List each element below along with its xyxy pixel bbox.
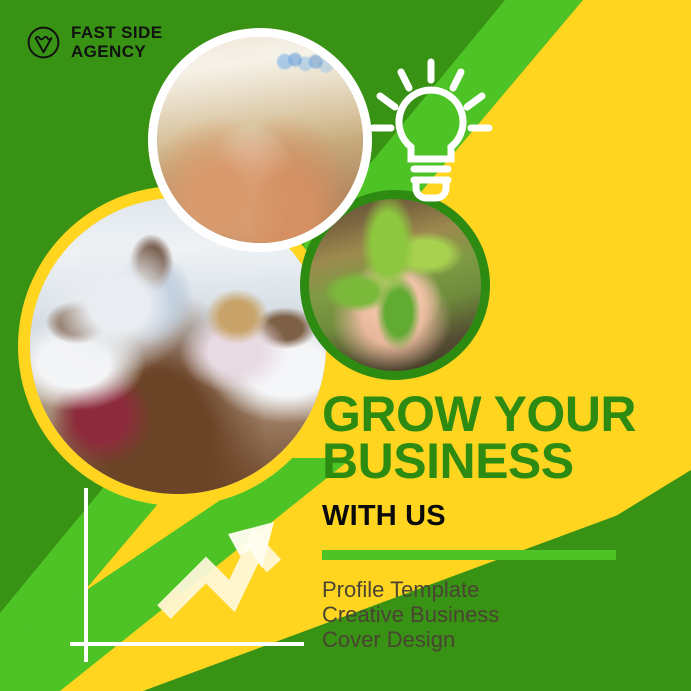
triangle-in-circle-icon <box>26 25 61 60</box>
photo-hands-typing-keyboard-image <box>157 37 363 243</box>
headline-subline: WITH US <box>322 500 672 532</box>
divider-rule <box>322 550 616 560</box>
photo-hands-typing-keyboard <box>148 28 372 252</box>
headline-line-1: GROW YOUR <box>322 392 672 437</box>
description-block: Profile Template Creative Business Cover… <box>322 577 672 652</box>
lightbulb-idea-icon <box>368 58 494 206</box>
brand-logo: FAST SIDE AGENCY <box>26 23 162 61</box>
description-line-3: Cover Design <box>322 627 672 652</box>
copy-block: GROW YOUR BUSINESS WITH US Profile Templ… <box>322 392 672 652</box>
upward-trend-arrow-chart-icon <box>60 484 320 674</box>
poster-canvas: FAST SIDE AGENCY <box>0 0 691 691</box>
headline-line-2: BUSINESS <box>322 439 672 484</box>
description-line-2: Creative Business <box>322 602 672 627</box>
description-line-1: Profile Template <box>322 577 672 602</box>
brand-name: FAST SIDE AGENCY <box>71 23 162 61</box>
photo-hands-typing-keyboard-frame <box>157 37 363 243</box>
brand-name-line2: AGENCY <box>71 42 162 61</box>
brand-name-line1: FAST SIDE <box>71 23 162 42</box>
